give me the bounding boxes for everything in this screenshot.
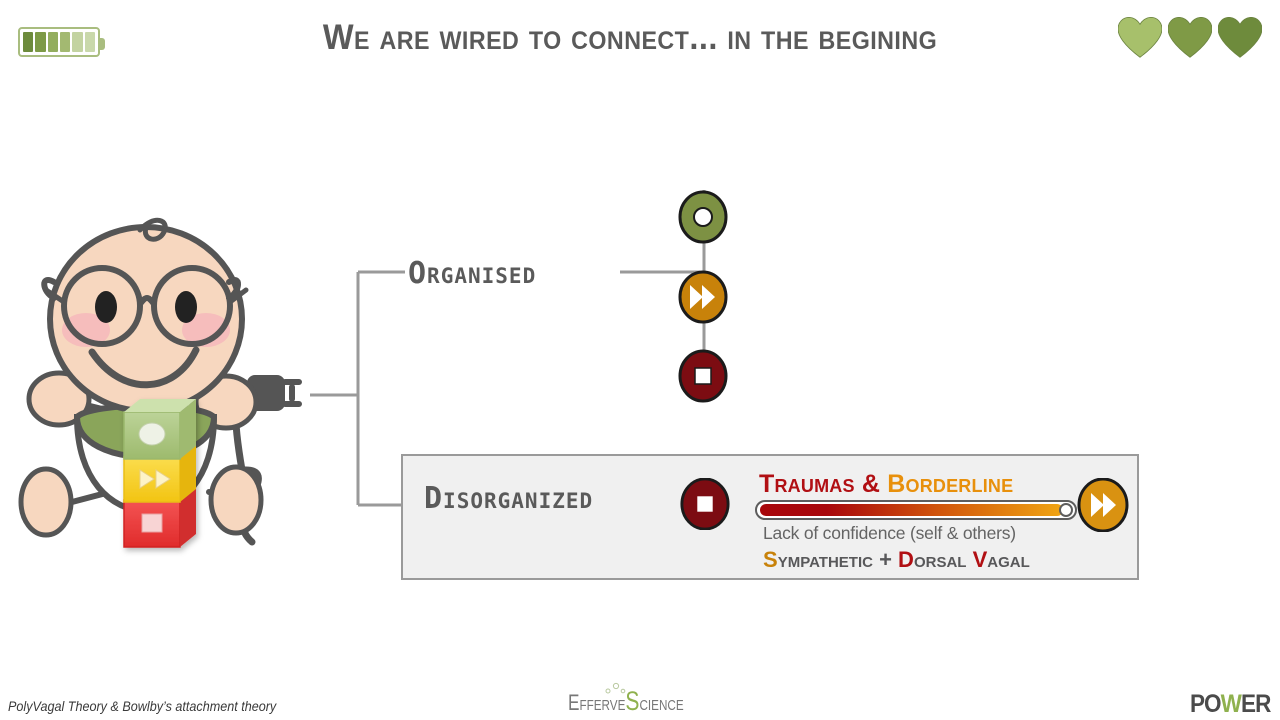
battery-cell-5 (72, 32, 82, 52)
disorganized-subtitle: Lack of confidence (self & others) (763, 523, 1016, 544)
slide-root: We are wired to connect... in the begini… (0, 0, 1280, 720)
progress-fill (760, 504, 1063, 516)
disorganized-systems: Sympathetic + Dorsal Vagal (763, 547, 1030, 573)
battery-icon (18, 27, 100, 57)
sys-rest: ympathetic (778, 547, 873, 572)
organised-label: Organised (408, 256, 536, 291)
brand-s: S (625, 686, 639, 716)
dv-initial2: V (973, 547, 988, 572)
effervescience-logo: EfferveScience (568, 686, 718, 716)
dv-rest2: agal (987, 547, 1030, 572)
fast-forward-icon[interactable] (1076, 478, 1130, 532)
footer-note: PolyVagal Theory & Bowlby’s attachment t… (8, 698, 276, 714)
page-title: We are wired to connect... in the begini… (184, 18, 1077, 58)
battery-cell-3 (48, 32, 58, 52)
stop-icon[interactable] (676, 349, 730, 403)
sys-initial: S (763, 547, 778, 572)
disorganized-progress-bar[interactable] (755, 500, 1077, 520)
battery-cell-1 (23, 32, 33, 52)
disorganized-label: Disorganized (424, 481, 593, 516)
power-po: PO (1189, 690, 1220, 718)
record-icon[interactable] (676, 190, 730, 244)
power-er: ER (1241, 690, 1270, 718)
heart-icon-1 (1118, 17, 1162, 59)
power-logo: POWER (1189, 690, 1270, 719)
stop-icon[interactable] (679, 478, 731, 530)
dv-initial: D (898, 547, 914, 572)
hearts-group (1118, 17, 1262, 59)
dv-rest: orsal (914, 547, 973, 572)
fast-forward-icon[interactable] (676, 270, 730, 324)
battery-cell-4 (60, 32, 70, 52)
battery-cell-2 (35, 32, 45, 52)
heading-borderline: Borderline (887, 470, 1013, 498)
brand-part1: Efferve (568, 690, 625, 715)
heart-icon-2 (1168, 17, 1212, 59)
battery-cell-6 (85, 32, 95, 52)
brand-text: EfferveScience (568, 686, 684, 717)
disorganized-heading: Traumas & Borderline (759, 470, 1013, 499)
heading-traumas: Traumas & (759, 470, 880, 498)
brand-part2: cience (639, 690, 683, 715)
sys-plus: + (873, 547, 898, 572)
power-w: W (1220, 690, 1240, 718)
progress-knob[interactable] (1059, 503, 1073, 517)
stop-icon (142, 514, 162, 532)
heart-icon-3 (1218, 17, 1262, 59)
record-icon (139, 423, 165, 445)
